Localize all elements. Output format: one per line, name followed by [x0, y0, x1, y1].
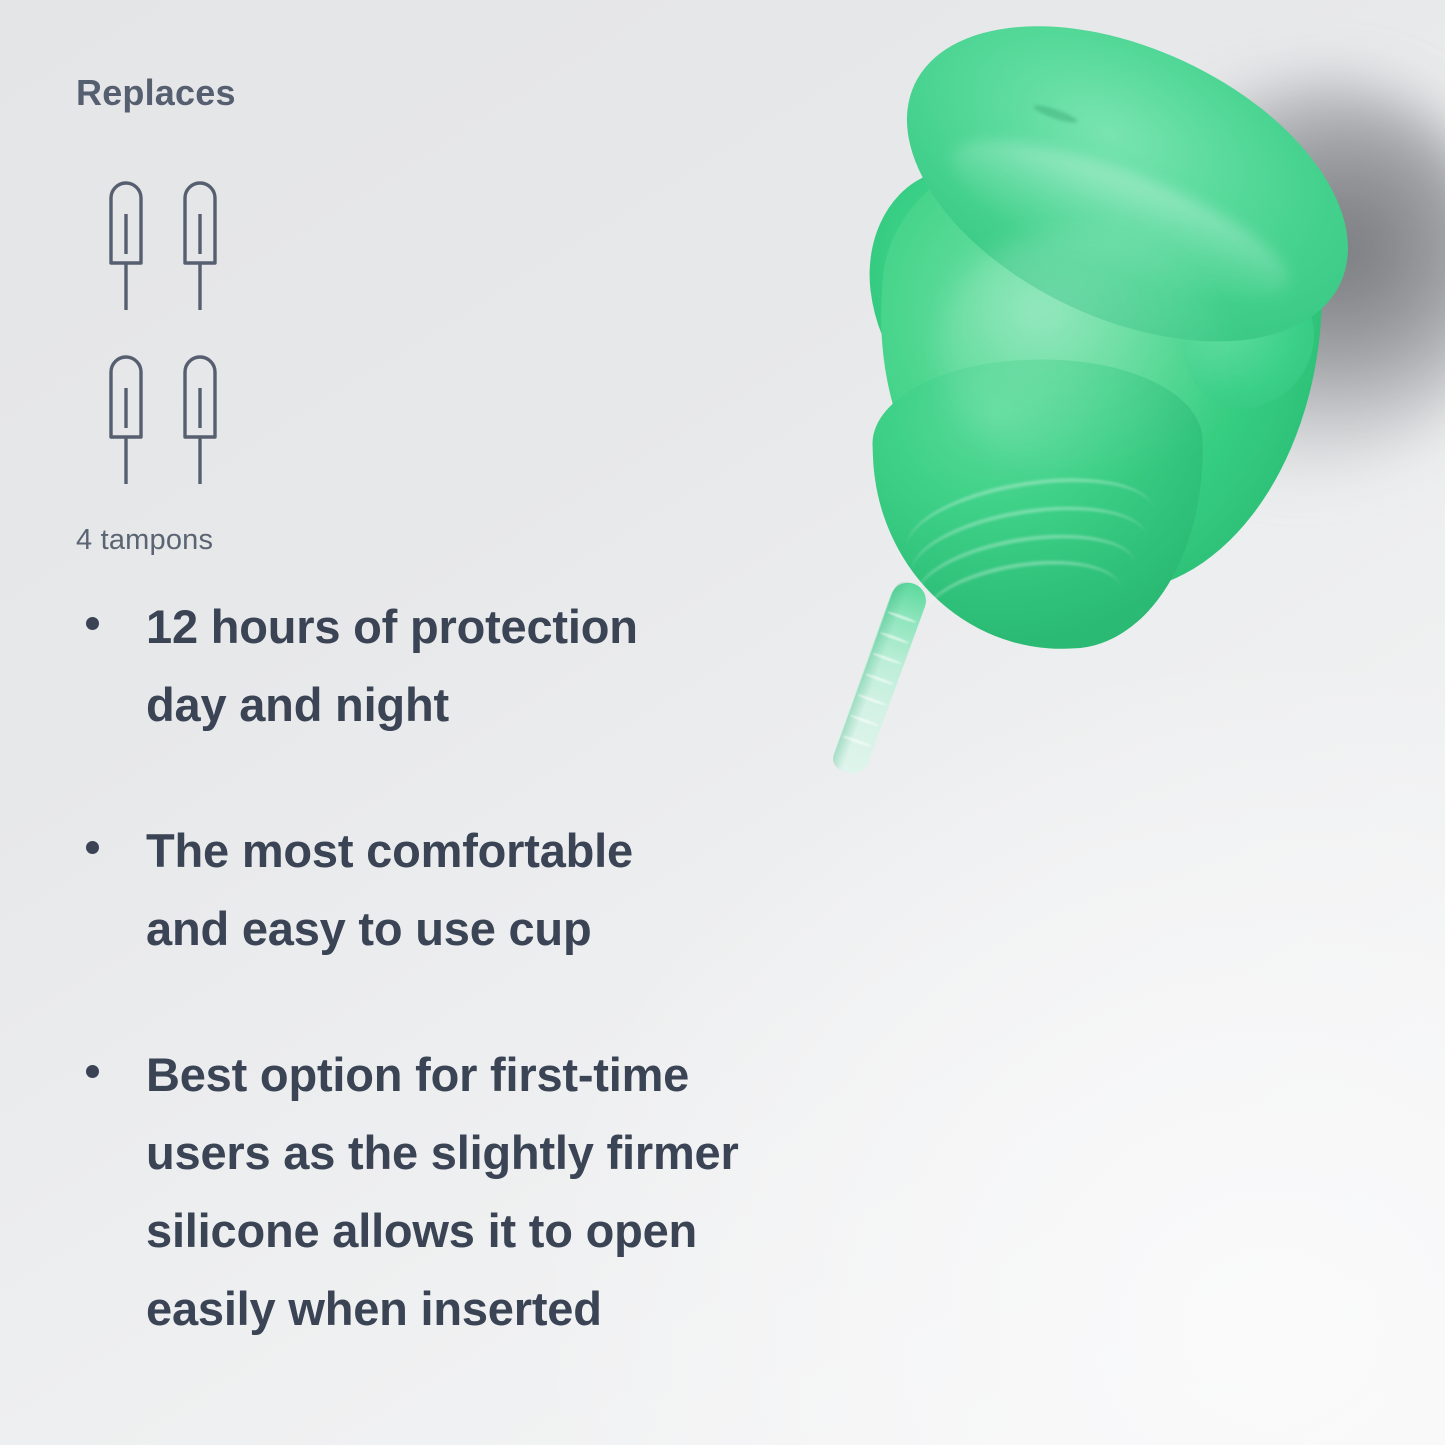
menstrual-cup-photo	[760, 0, 1445, 1000]
bullet-text: Best option for first-time users as the …	[146, 1036, 856, 1348]
bullet-dot-icon	[86, 1065, 99, 1078]
left-content-column: Replaces	[0, 0, 860, 1445]
tampons-count-caption: 4 tampons	[76, 524, 213, 557]
tampon-icon	[104, 342, 148, 492]
list-item: 12 hours of protection day and night	[76, 588, 856, 744]
bullet-dot-icon	[86, 617, 99, 630]
cup-stem	[829, 578, 931, 778]
feature-bullet-list: 12 hours of protection day and night The…	[76, 588, 856, 1348]
tampon-icon	[178, 168, 222, 318]
tampon-icon	[178, 342, 222, 492]
product-feature-card: Replaces	[0, 0, 1445, 1445]
bullet-dot-icon	[86, 841, 99, 854]
tampon-icon-grid	[104, 168, 274, 488]
tampon-icon	[104, 168, 148, 318]
menstrual-cup-graphic	[774, 0, 1406, 840]
bullet-text: 12 hours of protection day and night	[146, 588, 856, 744]
replaces-heading: Replaces	[76, 72, 236, 114]
list-item: Best option for first-time users as the …	[76, 1036, 856, 1348]
list-item: The most comfortable and easy to use cup	[76, 812, 856, 968]
bullet-text: The most comfortable and easy to use cup	[146, 812, 856, 968]
